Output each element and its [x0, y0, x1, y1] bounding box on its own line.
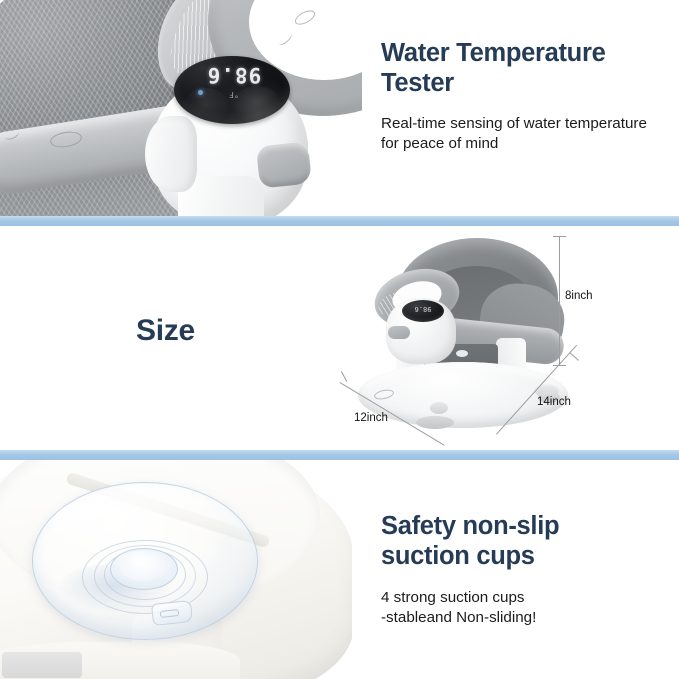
- base-suction-cup-front: [430, 402, 448, 414]
- suction-cups-subtext-line-2: -stableand Non-sliding!: [381, 608, 653, 628]
- seat-cavity-highlight: [456, 350, 468, 357]
- bath-seat-dimension-photo: 98.6 8inch 12inch 14inch: [352, 226, 582, 440]
- thermometer-heading: Water Temperature Tester: [381, 38, 649, 98]
- status-indicator-dot: [198, 90, 203, 95]
- seat-thermometer-reading: 98.6: [406, 305, 440, 313]
- thermometer-side-button: [256, 141, 312, 188]
- dimension-line-height: [559, 236, 560, 366]
- thermometer-display-dome: 98.6 °F: [174, 56, 290, 124]
- dimension-cap-depth-end: [569, 352, 579, 361]
- suction-cups-text-block: Safety non-slip suction cups 4 strong su…: [381, 511, 653, 629]
- product-infographic: 98.6 °F Water Temperature Tester Real-ti…: [0, 0, 679, 679]
- suction-cups-subtext: 4 strong suction cups -stableand Non-sli…: [381, 588, 653, 628]
- section-divider-top: [0, 216, 679, 226]
- section-water-temperature-tester: 98.6 °F Water Temperature Tester Real-ti…: [0, 0, 679, 216]
- suction-cup-center-highlight: [120, 553, 166, 581]
- dimension-label-width: 12inch: [354, 412, 388, 424]
- dimension-cap-height-top: [553, 236, 566, 237]
- suction-cup-closeup-photo: [0, 460, 352, 679]
- section-suction-cups: Safety non-slip suction cups 4 strong su…: [0, 460, 679, 679]
- temperature-reading: 98.6: [186, 64, 282, 85]
- thermometer-closeup-photo: 98.6 °F: [0, 0, 362, 216]
- suction-cups-subtext-line-1: 4 strong suction cups: [381, 588, 653, 608]
- section-size: Size 98.6: [0, 226, 679, 450]
- dimension-label-depth: 14inch: [537, 396, 571, 408]
- thermometer-text-block: Water Temperature Tester Real-time sensi…: [381, 38, 649, 155]
- background-element: [2, 652, 82, 678]
- size-text-block: Size: [136, 313, 195, 348]
- suction-cups-heading: Safety non-slip suction cups: [381, 511, 653, 571]
- dimension-label-height: 8inch: [565, 290, 593, 302]
- thermometer-subtext: Real-time sensing of water temperature f…: [381, 114, 649, 154]
- seat-thermometer-button: [388, 326, 410, 339]
- base-suction-cup-front-lower: [416, 416, 454, 429]
- size-heading: Size: [136, 313, 195, 348]
- section-divider-bottom: [0, 450, 679, 460]
- dimension-cap-width-start: [341, 371, 348, 382]
- thermometer-pod-left-lobe: [145, 116, 197, 192]
